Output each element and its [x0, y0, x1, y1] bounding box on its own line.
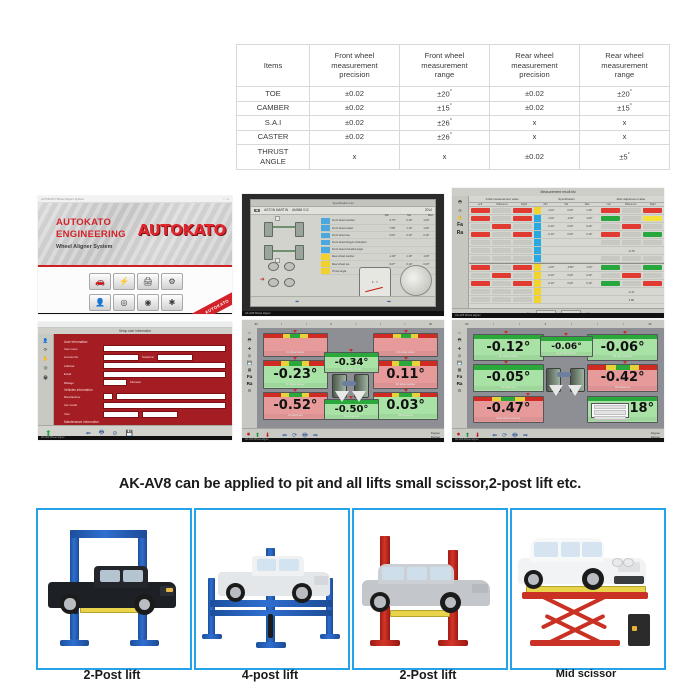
dimension-label-front	[275, 216, 280, 221]
reading-front-total-toe: -0.50° Front total toe	[324, 399, 378, 420]
car-icon	[342, 381, 356, 386]
degree-symbol: °	[450, 132, 452, 138]
ruler-tick: 90	[429, 323, 432, 326]
status-bar	[374, 361, 438, 365]
cell-fw-precision: x	[310, 145, 400, 170]
corner-ribbon: AUTOKATO	[187, 287, 232, 314]
reading-fl-camber: -0.23° FL wheel camber	[263, 360, 329, 388]
value-cell	[492, 224, 511, 229]
cell-rw-precision: ±0.02	[490, 101, 580, 116]
chart-icon[interactable]: ▦	[458, 367, 462, 372]
spec-values: -0.20°0.00°0.20°	[541, 274, 599, 277]
table-row: THRUST ANGLE x x ±0.02 ±5°	[237, 145, 670, 170]
degree-symbol: °	[450, 118, 452, 124]
field-label: User name	[64, 347, 100, 351]
cell-rw-precision: ±0.02	[490, 145, 580, 170]
target-marker	[404, 330, 408, 333]
user-icon[interactable]: 👤	[89, 294, 111, 311]
value-cell	[471, 224, 490, 229]
vehicle-windshield	[123, 570, 143, 582]
lift-caption-4: Mid scissor	[510, 668, 662, 680]
splash-title-line1: AUTOKATO	[56, 217, 111, 228]
row-key-icon	[321, 261, 330, 267]
vehicle-window-rear	[534, 542, 558, 557]
reading-label: Rear wheels total toe	[474, 417, 543, 421]
group-header-spec: Specification	[535, 196, 597, 202]
target-marker	[404, 389, 408, 392]
wheel-icon[interactable]: ◉	[137, 294, 159, 311]
target-marker	[293, 330, 297, 333]
ruler-tick: -90	[465, 323, 469, 326]
value-cell	[471, 232, 490, 237]
mileage-input[interactable]	[103, 379, 127, 386]
next-button[interactable]: ➡	[387, 299, 391, 305]
cell-item: CASTER	[237, 130, 310, 145]
form-row: Manufacturer	[64, 393, 226, 400]
screenshot-specification-list: Specification List ◆ ASTON MARTIN AM668 …	[242, 194, 444, 316]
row-key-icon	[321, 268, 330, 274]
reading-value: -0.52°	[264, 397, 328, 414]
column-header-rear-precision: Rear wheel measurement precision	[490, 45, 580, 87]
manufacturer-picker-icon[interactable]	[103, 393, 113, 400]
measure-icon[interactable]: ⚡	[113, 273, 135, 290]
wheel-fl-icon	[264, 222, 273, 237]
wheel-icon[interactable]: ◎	[44, 365, 48, 371]
reading-value: -0.47°	[474, 401, 543, 417]
reading-value	[374, 338, 438, 351]
save-icon[interactable]: 💾	[457, 360, 462, 365]
row-key-icon	[534, 231, 541, 237]
reading-label: FR wheel caster	[374, 351, 438, 355]
diagram-wheel-3	[268, 278, 279, 287]
target-marker	[564, 333, 568, 336]
wheel-icon[interactable]: ◎	[248, 353, 252, 358]
tool-icon[interactable]: ✚	[458, 346, 461, 351]
vehicle-wheel-front	[134, 594, 155, 615]
value-cell	[643, 256, 662, 261]
group-header-initial: Initial measurement value	[469, 196, 535, 202]
wheel-icon[interactable]: ◎	[458, 353, 462, 358]
field-label: Address	[64, 364, 100, 368]
table-row: TOE ±0.02 ±20° ±0.02 ±20°	[237, 87, 670, 102]
lift-scene	[38, 510, 190, 668]
column-header-rear-range: Rear wheel measurement range	[580, 45, 670, 87]
lift-scene	[196, 510, 348, 668]
toolbar-label-fa[interactable]: Fa	[457, 374, 462, 379]
vehicle-white-hatchback	[518, 536, 646, 592]
window-titlebar: AUTOKATO Wheel Aligner System ▫ ▫ ✕	[38, 196, 232, 203]
section-legend-maintenance: Maintenance information	[64, 420, 226, 424]
reading-label: RR wheel camber	[588, 355, 657, 359]
reading-value: -0.06°	[541, 341, 592, 352]
reading-value: -0.23°	[264, 366, 328, 383]
field-label: Car model	[64, 403, 100, 407]
diagram-wheel-4	[284, 278, 295, 287]
titlebar-title: AUTOKATO Wheel Aligner System	[41, 198, 84, 201]
left-toolbar: ⌂ 🖶 ✚ ◎ 💾 ▦ Fa Ra ⚙	[242, 328, 258, 429]
after-values	[599, 224, 664, 229]
alignment-stage: -0.12° RL wheel camber -0.06° RR wheel c…	[467, 328, 664, 429]
value-cell	[622, 208, 641, 213]
row-key-icon	[534, 255, 541, 261]
hand-icon[interactable]: ✋	[43, 356, 48, 362]
value-cell	[471, 256, 490, 261]
reading-rr-toe: -0.42° RR wheel toe	[587, 364, 658, 391]
vehicle-window-mid	[407, 567, 427, 580]
spec-values: -0.10°0.00°0.10°	[541, 233, 599, 236]
tool-icon[interactable]: ✚	[248, 346, 251, 351]
chevron-down-icon	[549, 385, 563, 396]
after-note: 1.66	[629, 298, 634, 302]
vehicle-grille	[314, 576, 328, 585]
status-bar	[474, 335, 543, 339]
spec-values: -0.10°0.00°0.10°	[541, 282, 599, 285]
value-cell	[513, 232, 532, 237]
reading-rear-total-camber: -0.06° Rear total camber	[540, 336, 593, 357]
vehicle-windshield	[279, 559, 299, 571]
wheel-rr-icon	[295, 245, 304, 260]
hand-icon[interactable]: ✋	[458, 215, 463, 220]
row-key-icon	[321, 218, 330, 224]
cell-rw-precision: x	[490, 130, 580, 145]
lift-base-center	[256, 642, 286, 648]
lift-photo-gallery: 2-Post lift 4-post lift 2-Post lift Mid …	[36, 508, 668, 700]
section-legend-vehicle: Vehicles information	[64, 388, 226, 392]
value-cell	[643, 240, 662, 245]
degree-symbol: °	[450, 89, 452, 95]
address-input[interactable]	[103, 362, 226, 369]
value-cell	[622, 216, 641, 221]
cell-fw-range: ±20°	[400, 87, 490, 102]
after-values	[599, 216, 664, 221]
initial-values	[469, 289, 534, 294]
table-row: 1.66	[469, 296, 664, 304]
cell-rw-precision: ±0.02	[490, 87, 580, 102]
row-key-icon	[534, 223, 541, 229]
reading-label: RL wheel toe	[474, 386, 543, 390]
monitor-bezel: Specification List ◆ ASTON MARTIN AM668 …	[242, 194, 444, 316]
ruler-tick: 0	[330, 323, 331, 326]
result-body: 🖶 ⟳ ✋ Fa Ra Initial measurement value Sp…	[452, 196, 664, 309]
toolbar-label-fa[interactable]: Fa	[457, 222, 463, 228]
telephone-input[interactable]	[157, 354, 193, 361]
table-header: Items Front wheel measurement precision …	[237, 45, 670, 87]
reading-fr-toe: 0.03° FR wheel toe	[373, 392, 439, 420]
initial-values	[469, 273, 534, 278]
table-row: CASTER ±0.02 ±26° x x	[237, 130, 670, 145]
row-key-icon	[534, 207, 541, 213]
degree-symbol: °	[450, 103, 452, 109]
screenshot-alignment-front: -90||0|||90 ⌂ 🖶 ✚ ◎ 💾 ▦ Fa Ra ⚙ FL wheel…	[242, 320, 444, 442]
print-icon[interactable]: 🖶	[43, 374, 47, 382]
alignment-window: -90||0|||90 ⌂ 🖶 ✚ ◎ 💾 ▦ Fa Ra ⚙ -0.12° R…	[452, 320, 664, 442]
refresh-icon[interactable]: ⟳	[44, 347, 48, 353]
toolbar-label-ra[interactable]: Ra	[457, 230, 463, 236]
row-key-icon	[534, 264, 541, 270]
initial-values	[469, 216, 534, 221]
status-bar	[474, 365, 543, 369]
target-marker	[504, 361, 508, 364]
initial-values	[469, 281, 534, 286]
after-note: -0.17	[628, 290, 634, 294]
value-cell	[471, 273, 490, 278]
chevron-down-icon	[352, 391, 366, 402]
column-header-front-range: Front wheel measurement range	[400, 45, 490, 87]
print-icon[interactable]: 🖶	[248, 337, 252, 344]
splash-menu-area: 🚗 ⚡ 🖨 ⚙ 👤 ◎ ◉ ✱ AUTOKATO	[38, 267, 232, 313]
user-icon[interactable]: 👤	[43, 338, 48, 344]
col-right: Right	[513, 203, 535, 206]
vehicle-wheel-front	[440, 592, 461, 613]
lift-caption-3: 2-Post lift	[352, 668, 504, 682]
value-cell	[622, 265, 641, 270]
value-cell	[471, 265, 490, 270]
reading-value: 0.03°	[374, 397, 438, 414]
degree-symbol: °	[630, 89, 632, 95]
home-icon[interactable]: ⌂	[248, 330, 250, 335]
adjust-icon[interactable]: ⚙	[161, 273, 183, 290]
cell-fw-range: ±15°	[400, 101, 490, 116]
diagram-wheel-1	[268, 262, 279, 271]
value-cell	[622, 232, 641, 237]
initial-values	[469, 297, 534, 302]
col-diff: Difference	[491, 203, 513, 206]
after-values	[599, 281, 664, 286]
value-cell	[513, 256, 532, 261]
chart-icon[interactable]: ▦	[248, 367, 252, 372]
ruler-tick: |	[380, 323, 381, 326]
cell-fw-range: x	[400, 145, 490, 170]
prev-button[interactable]: ⬅	[295, 299, 299, 305]
col-left: Left	[469, 203, 491, 206]
refresh-icon[interactable]: ⟳	[458, 208, 461, 213]
reading-label: RR wheel toe	[588, 386, 657, 390]
field-label: Email	[64, 372, 100, 376]
row-key-icon	[321, 240, 330, 246]
save-icon[interactable]: 💾	[247, 360, 252, 365]
detail-line	[594, 405, 626, 410]
group-headers: Initial measurement value Specification …	[469, 196, 664, 203]
year-from-input[interactable]	[103, 411, 139, 418]
row-key-icon	[534, 215, 541, 221]
vehicle-window-rear	[382, 567, 404, 580]
value-cell	[643, 281, 662, 286]
hydraulic-cylinder	[268, 614, 273, 638]
initial-values	[469, 240, 534, 245]
wheel-fr-icon	[295, 222, 304, 237]
manufacturer-input[interactable]	[116, 393, 226, 400]
lift-base-right	[130, 640, 159, 646]
reading-value: -0.06°	[588, 339, 657, 355]
value-cell	[513, 224, 532, 229]
reading-fl-caster: FL wheel caster	[263, 333, 329, 357]
status-bar	[588, 397, 657, 401]
value-cell	[622, 273, 641, 278]
reading-label: FL wheel camber	[264, 383, 328, 387]
row-key-icon	[321, 247, 330, 253]
field-label: Manufacturer	[64, 395, 100, 399]
vehicle-wheel-front	[292, 583, 312, 603]
home-icon[interactable]: ⌂	[458, 330, 460, 335]
wheel-rl-icon	[264, 245, 273, 260]
target-marker	[293, 357, 297, 360]
settings-icon[interactable]: ⚙	[458, 388, 462, 393]
license-no-input[interactable]	[103, 354, 139, 361]
car-model-input[interactable]	[103, 402, 226, 409]
steering-icon[interactable]: ◎	[113, 294, 135, 311]
value-cell	[622, 240, 641, 245]
value-cell	[471, 216, 490, 221]
lift-photo-1	[36, 508, 192, 670]
scissor-base-rail	[530, 640, 620, 646]
cell-rw-range: x	[580, 130, 670, 145]
spec-row: Front wheel toe0.04°0.10°0.16°	[321, 232, 435, 239]
ruler-tick: |	[306, 323, 307, 326]
vehicle-white-pickup	[218, 552, 330, 602]
target-marker	[623, 331, 627, 334]
value-cell	[471, 297, 490, 302]
row-key-icon	[534, 247, 541, 253]
cell-item: TOE	[237, 87, 310, 102]
target-marker	[293, 389, 297, 392]
ruler-tick: |	[597, 323, 598, 326]
value-cell	[492, 208, 511, 213]
after-values	[599, 265, 664, 270]
value-cell	[643, 265, 662, 270]
table-row: -1.00°0.00°1.00°	[469, 207, 664, 215]
vehicle-wheel-rear	[370, 592, 390, 612]
spec-window: Specification List ◆ ASTON MARTIN AM668 …	[250, 199, 436, 308]
email-input[interactable]	[103, 371, 226, 378]
vehicle-grille	[472, 584, 488, 593]
gauge-face: E F	[359, 267, 392, 298]
form-row: MileageKilometer	[64, 379, 226, 386]
reading-value: 0.11°	[374, 366, 438, 383]
spec-values: -1.00°-0.30°1.00°	[541, 217, 599, 220]
reading-label: FL wheel toe	[264, 414, 328, 418]
statusbar: AK-AV8 Wheel aligner	[452, 313, 664, 318]
fuel-gauge-graphic: E F	[359, 267, 390, 296]
print-icon[interactable]: 🖶	[458, 199, 462, 206]
value-cell	[492, 240, 511, 245]
power-unit-icon	[628, 614, 650, 646]
year-to-input[interactable]	[142, 411, 178, 418]
vehicle-window	[257, 559, 276, 571]
value-cell	[492, 273, 511, 278]
setup-body: 👤 ⟳ ✋ ◎ 🖶 User information User name Lic…	[38, 334, 232, 426]
field-label: Mileage	[64, 381, 100, 385]
value-cell	[643, 232, 662, 237]
ruler-tick: 90	[648, 323, 651, 326]
col-std: Std	[556, 203, 577, 206]
settings-icon[interactable]: ⚙	[248, 388, 252, 393]
reading-label: Front total camber	[325, 368, 377, 372]
unit-label: Kilometer	[130, 381, 141, 384]
spec-values: -1.00°0.00°1.00°	[541, 209, 599, 212]
value-cell	[622, 224, 641, 229]
setup-window: Setup user information 👤 ⟳ ✋ ◎ 🖶 User in…	[38, 322, 232, 440]
reading-label: FR wheel toe	[374, 414, 438, 418]
cell-rw-range: ±15°	[580, 101, 670, 116]
table-row: -0.20°0.00°0.20°	[469, 272, 664, 280]
screenshot-result-list: Measurement result list 🖶 ⟳ ✋ Fa Ra Init…	[452, 188, 664, 318]
vehicle-headlight	[166, 588, 173, 592]
field-label: License No.	[64, 355, 100, 359]
col-min: Min	[535, 203, 556, 206]
screenshot-alignment-rear: -90||0|||90 ⌂ 🖶 ✚ ◎ 💾 ▦ Fa Ra ⚙ -0.12° R…	[452, 320, 664, 442]
toolbar-label-fa[interactable]: Fa	[247, 374, 252, 379]
spec-row: Front wheel caster7.58°1.10°1.60°	[321, 225, 435, 232]
reading-rear-total-toe: -0.47° Rear wheels total toe	[473, 396, 544, 423]
value-cell	[471, 248, 490, 253]
after-values	[599, 256, 664, 261]
form-row: License No.Telephone	[64, 354, 226, 361]
col-min: Min	[367, 214, 389, 217]
reading-value	[264, 338, 328, 351]
vehicle-wheel-rear	[226, 583, 245, 602]
vehicle-select-icon[interactable]: 🚗	[89, 273, 111, 290]
row-key-icon	[321, 254, 330, 260]
field-label: Year	[64, 412, 100, 416]
lift-caption-1: 2-Post lift	[36, 668, 188, 682]
window-controls: ▫ ▫ ✕	[223, 198, 229, 201]
row-key-icon	[534, 288, 541, 294]
table-row: -1.00°-0.50°1.00°	[469, 263, 664, 272]
ruler-tick: |	[356, 323, 357, 326]
toolbar-label-ra[interactable]: Ra	[247, 381, 253, 386]
vehicle-diagram: ➜	[251, 213, 321, 298]
specification-table: Items Front wheel measurement precision …	[236, 44, 670, 170]
print-icon[interactable]: 🖶	[458, 337, 462, 344]
status-bar	[541, 337, 592, 341]
screenshot-splash-screen: AUTOKATO Wheel Aligner System ▫ ▫ ✕ AUTO…	[38, 196, 232, 314]
diagram-wheel-2	[284, 262, 295, 271]
vehicle-windshield	[430, 567, 451, 580]
spec-values: -1.00°-0.50°1.00°	[541, 266, 599, 269]
settings-icon[interactable]: ✱	[161, 294, 183, 311]
report-icon[interactable]: 🖨	[137, 273, 159, 290]
cell-fw-precision: ±0.02	[310, 130, 400, 145]
vehicle-make: ASTON MARTIN	[264, 208, 288, 212]
after-values	[599, 240, 664, 245]
reading-fl-toe: -0.52° FL wheel toe	[263, 392, 329, 420]
value-cell	[622, 281, 641, 286]
spec-main: ➜ Min Std Max Front wheel camber-0.75°0.…	[251, 213, 435, 298]
ruler-tick: |	[281, 323, 282, 326]
col-left-after: Left	[598, 203, 620, 206]
table-row: CAMBER ±0.02 ±15° ±0.02 ±15°	[237, 101, 670, 116]
logo-badge: ◆	[254, 209, 260, 212]
reading-fr-camber: 0.11° FR wheel camber	[373, 360, 439, 388]
value-cell	[601, 232, 620, 237]
reading-value: -0.42°	[588, 370, 657, 386]
target-marker	[526, 393, 530, 396]
toolbar-label-ra[interactable]: Ra	[457, 381, 463, 386]
value-cell	[601, 240, 620, 245]
ruler-tick: |	[519, 323, 520, 326]
reading-value: -0.05°	[474, 370, 543, 386]
form-row: User name	[64, 345, 226, 352]
direction-arrow-icon: ➜	[260, 276, 265, 283]
after-values	[599, 232, 664, 237]
reading-value: -0.34°	[325, 357, 377, 368]
value-cell	[471, 281, 490, 286]
value-cell	[601, 224, 620, 229]
cell-fw-range: ±26°	[400, 116, 490, 131]
user-name-input[interactable]	[103, 345, 226, 352]
floor	[38, 650, 190, 668]
target-marker	[404, 357, 408, 360]
